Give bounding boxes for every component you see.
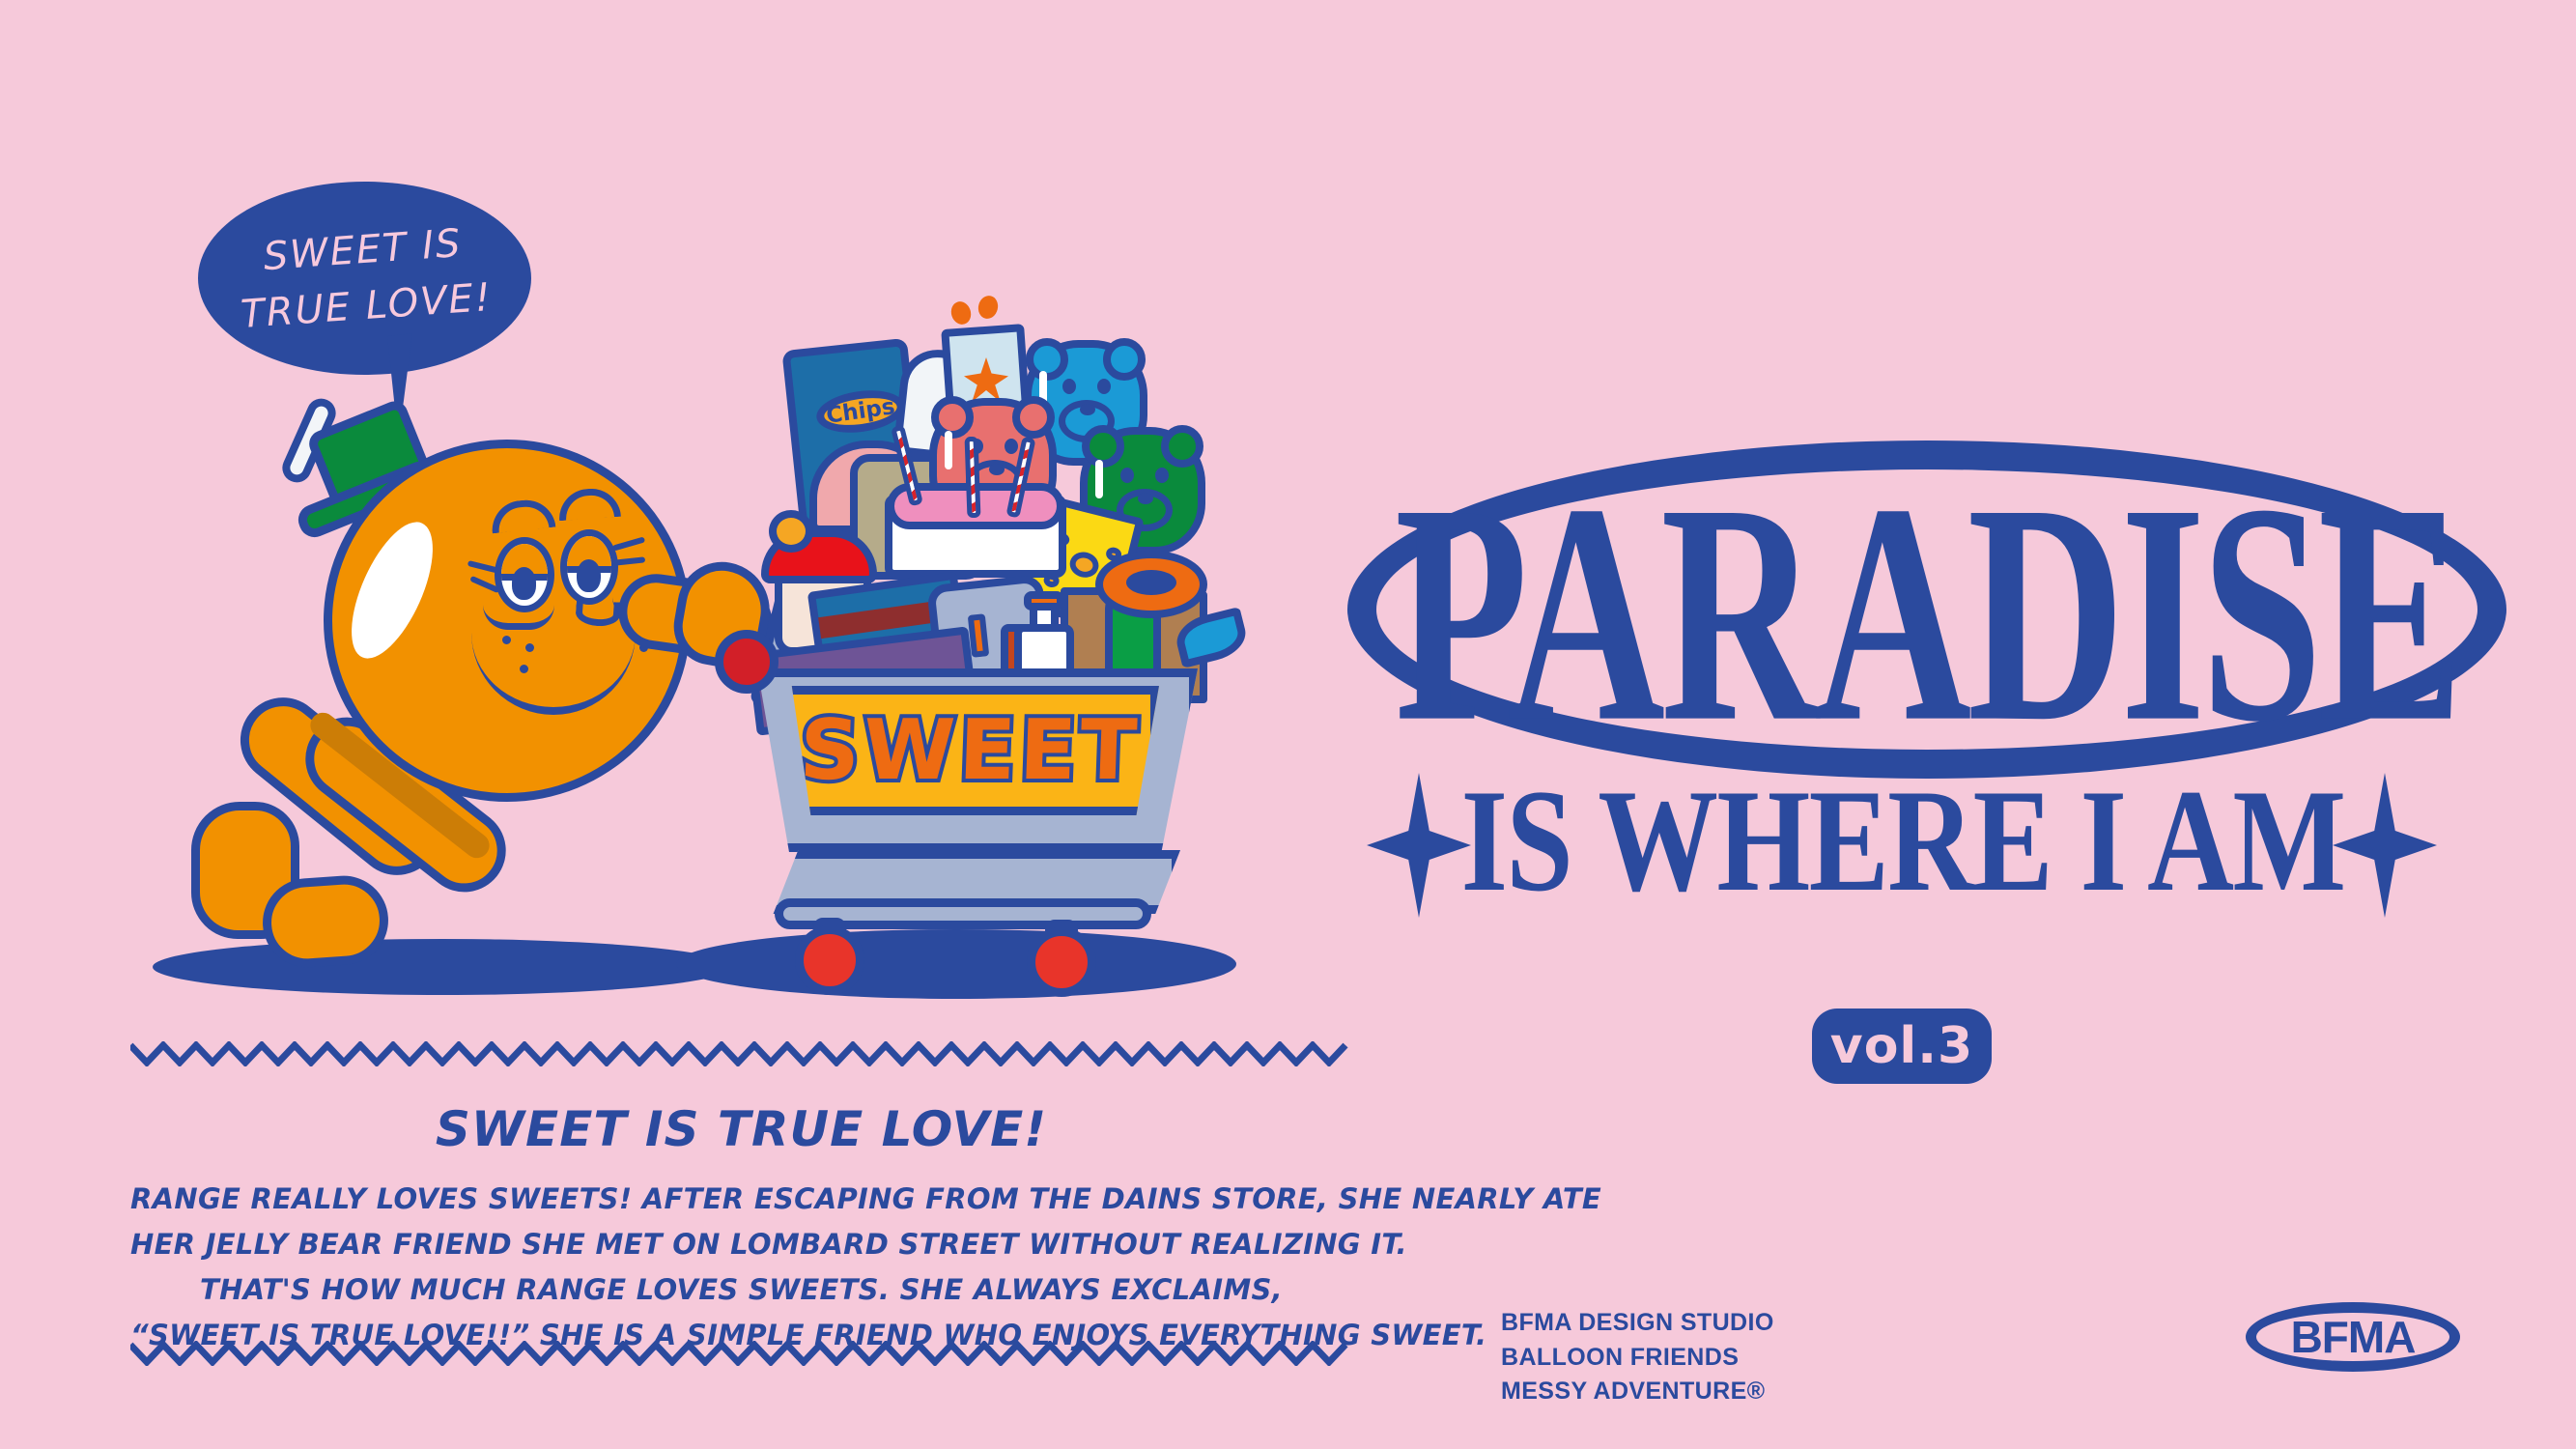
speech-bubble: SWEET IS TRUE LOVE!: [198, 182, 531, 375]
body-copy-line-2: HER JELLY BEAR FRIEND SHE MET ON LOMBARD…: [130, 1222, 1352, 1267]
body-copy-line-4: “SWEET IS TRUE LOVE!!” SHE IS A SIMPLE F…: [130, 1313, 1352, 1358]
splash-drop-1: [948, 298, 974, 327]
sparkle-icon-left: [1367, 773, 1471, 918]
bear-nose: [989, 464, 1005, 475]
bear-shine: [945, 431, 952, 469]
speech-bubble-text: SWEET IS TRUE LOVE!: [191, 170, 537, 386]
freckle-1: [502, 636, 511, 644]
ground-shadow-left: [153, 939, 732, 995]
bear-eye-right: [1097, 379, 1111, 394]
character-eye-right: [560, 529, 618, 605]
straw-2: [965, 437, 981, 518]
bear-ear-right: [1103, 338, 1146, 381]
body-copy: RANGE REALLY LOVES SWEETS! AFTER ESCAPIN…: [130, 1177, 1352, 1358]
character-eye-left: [495, 537, 554, 612]
bear-ear-right: [1161, 425, 1203, 468]
cart-handle-grip: [715, 630, 778, 694]
bear-ear-left: [1082, 425, 1124, 468]
body-copy-line-1: RANGE REALLY LOVES SWEETS! AFTER ESCAPIN…: [130, 1177, 1352, 1222]
credits-line-2: BALLOON FRIENDS: [1501, 1341, 1774, 1376]
pupil-left: [512, 567, 537, 599]
milk-bottle-cap: [1024, 591, 1064, 611]
bear-eye-left: [1120, 468, 1134, 483]
bear-nose: [1080, 404, 1095, 415]
cart-front-panel: SWEET: [780, 686, 1159, 815]
freckle-3: [520, 665, 528, 673]
bear-shine: [1095, 460, 1103, 498]
zigzag-divider-top: [130, 1041, 1352, 1066]
poster-canvas: SWEET IS TRUE LOVE! Chips: [0, 0, 2576, 1449]
bear-nose: [1138, 493, 1153, 504]
sparkle-icon-right: [2333, 773, 2437, 918]
page-subtitle: IS WHERE I AM: [1554, 763, 2251, 918]
cart-panel-word: SWEET: [798, 702, 1142, 799]
credits-line-1: BFMA DESIGN STUDIO: [1501, 1306, 1774, 1341]
pupil-right: [577, 559, 601, 591]
volume-badge: vol.3: [1812, 1009, 1992, 1084]
donut-hole: [1126, 570, 1176, 595]
section-heading: SWEET IS TRUE LOVE!: [130, 1101, 1352, 1157]
splash-drop-2: [976, 294, 1000, 321]
freckle-2: [525, 643, 534, 652]
bear-eye-right: [1005, 439, 1018, 454]
bear-ear-left: [931, 396, 974, 439]
page-title: PARADISE: [1497, 435, 2356, 792]
cart-wheel-right: [1027, 927, 1096, 997]
bfma-logo: BFMA: [2246, 1302, 2460, 1372]
cupcake-cherry: [769, 510, 813, 553]
bear-ear-left: [1026, 338, 1068, 381]
credits-block: BFMA DESIGN STUDIO BALLOON FRIENDS MESSY…: [1501, 1306, 1774, 1409]
bear-ear-right: [1012, 396, 1055, 439]
body-copy-line-3: THAT'S HOW MUCH RANGE LOVES SWEETS. SHE …: [130, 1267, 1352, 1313]
ground-shadow-right: [676, 929, 1236, 999]
cart-wheel-left: [795, 925, 864, 995]
credits-line-3: MESSY ADVENTURE®: [1501, 1375, 1774, 1409]
bear-eye-right: [1155, 468, 1169, 483]
bear-eye-left: [1062, 379, 1076, 394]
